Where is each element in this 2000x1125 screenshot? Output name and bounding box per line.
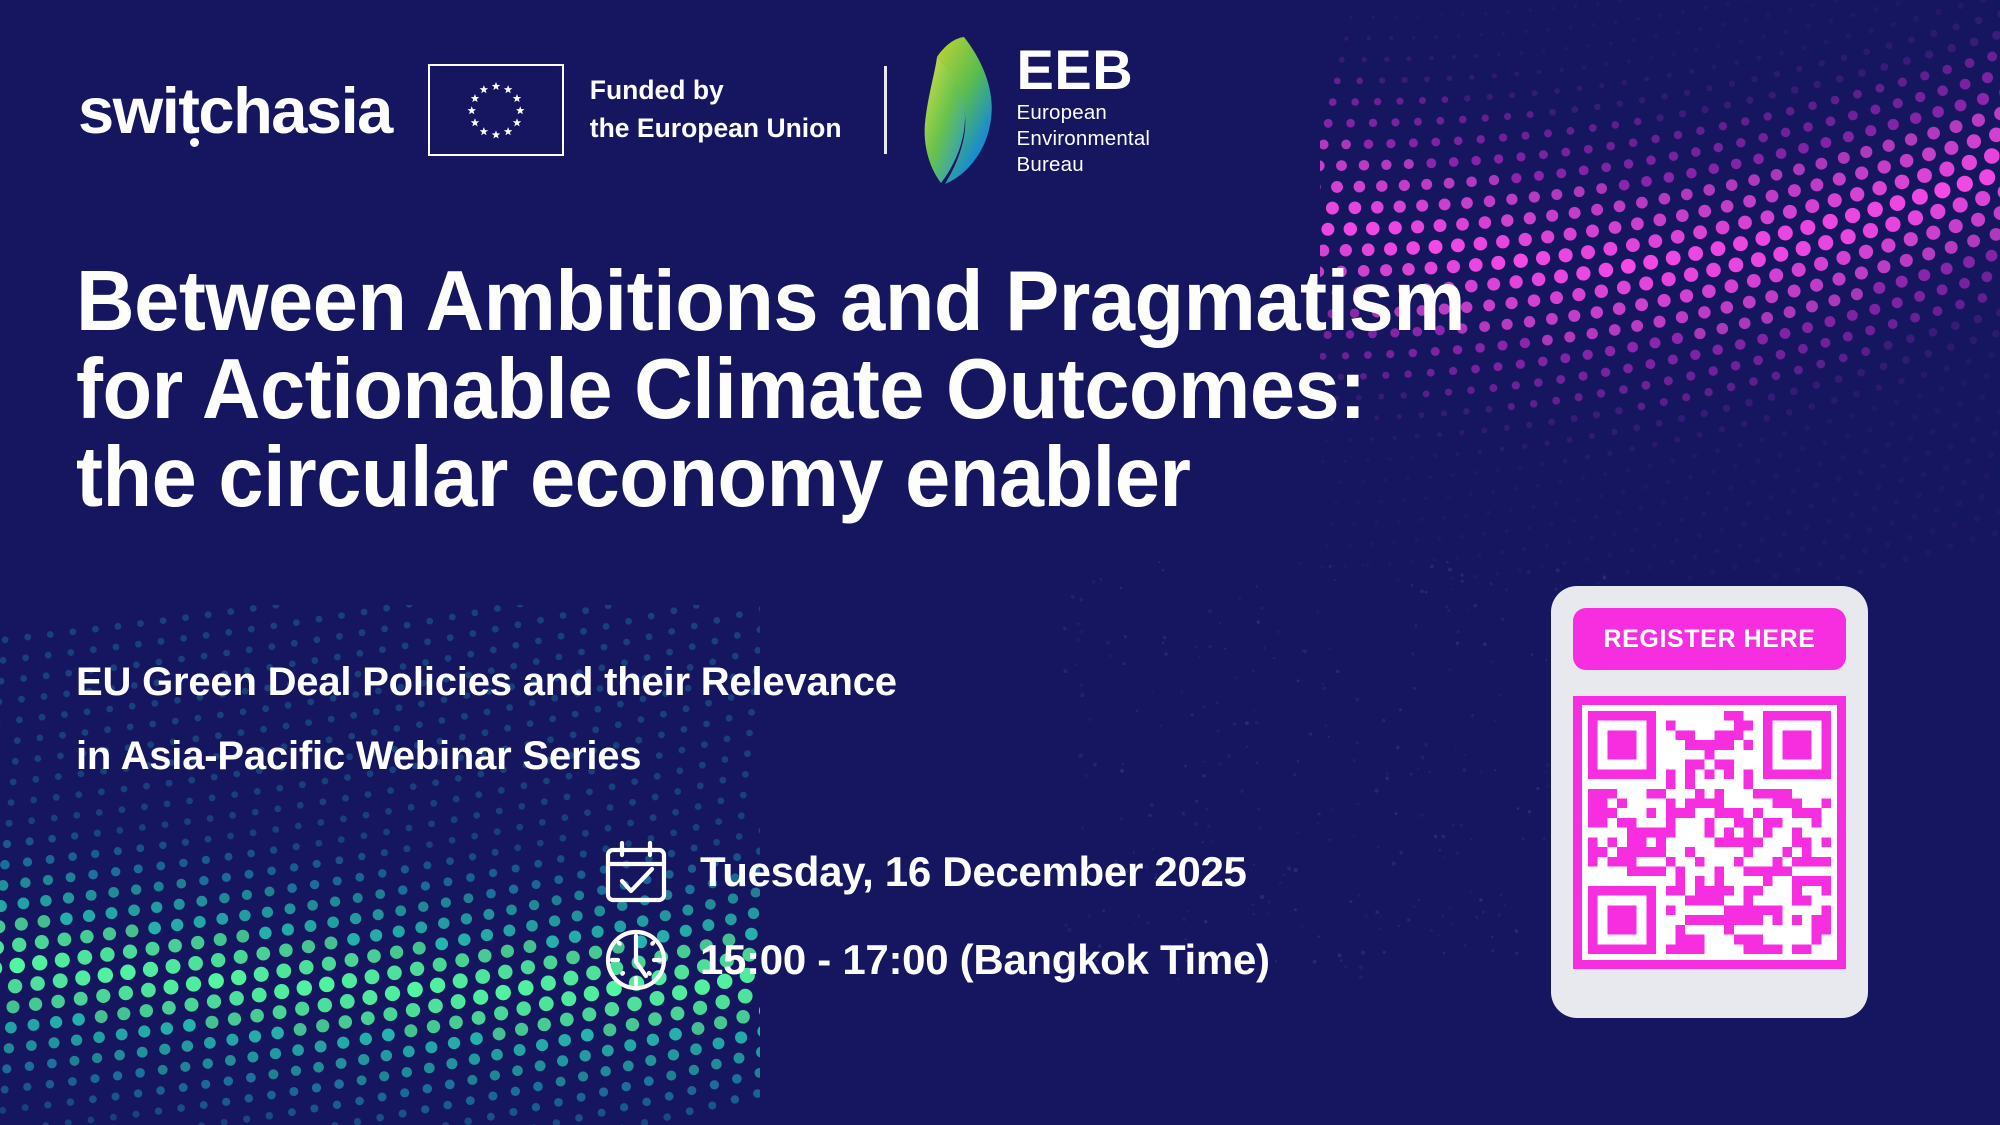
page-title-line-1: Between Ambitions and Pragmatism [76, 258, 1604, 346]
registration-card: REGISTER HERE [1551, 586, 1868, 1018]
logo-row: switchasia Funded by the European Union [78, 52, 1150, 168]
header-divider [884, 66, 887, 154]
page-subtitle-line-2: in Asia-Pacific Webinar Series [76, 719, 897, 793]
event-date-label: Tuesday, 16 December 2025 [700, 848, 1247, 896]
qr-code-icon[interactable] [1573, 696, 1846, 969]
eu-funding-text: Funded by the European Union [590, 72, 842, 147]
eu-funding-line-1: Funded by [590, 72, 842, 110]
eeb-fullname-line-1: European [1017, 100, 1151, 126]
eeb-fullname-line-2: Environmental [1017, 126, 1151, 152]
eeb-leaf-logo-icon [923, 35, 1001, 185]
eu-funding-logo: Funded by the European Union [428, 64, 842, 156]
register-here-button[interactable]: REGISTER HERE [1573, 608, 1846, 670]
clock-icon [600, 924, 672, 996]
eeb-fullname: European Environmental Bureau [1017, 100, 1151, 177]
switchasia-logo-text: switchasia [78, 74, 392, 147]
eeb-fullname-line-3: Bureau [1017, 152, 1151, 178]
european-union-flag-icon [428, 64, 564, 156]
webinar-banner: switchasia Funded by the European Union [0, 0, 2000, 1125]
event-date-row: Tuesday, 16 December 2025 [600, 828, 1270, 916]
eeb-logo: EEB European Environmental Bureau [923, 35, 1151, 185]
page-title: Between Ambitions and Pragmatism for Act… [76, 258, 1604, 522]
eeb-acronym: EEB [1017, 43, 1151, 96]
page-subtitle-line-1: EU Green Deal Policies and their Relevan… [76, 645, 897, 719]
event-time-label: 15:00 - 17:00 (Bangkok Time) [700, 936, 1270, 984]
event-details: Tuesday, 16 December 2025 15:00 - 17:00 … [600, 828, 1270, 1004]
page-subtitle: EU Green Deal Policies and their Relevan… [76, 645, 897, 793]
page-title-line-3: the circular economy enabler [76, 434, 1604, 522]
eu-funding-line-2: the European Union [590, 110, 842, 148]
switchasia-logo-dot [190, 138, 199, 147]
calendar-check-icon [600, 836, 672, 908]
event-time-row: 15:00 - 17:00 (Bangkok Time) [600, 916, 1270, 1004]
page-title-line-2: for Actionable Climate Outcomes: [76, 346, 1604, 434]
eeb-text-block: EEB European Environmental Bureau [1017, 43, 1151, 178]
switchasia-wordmark[interactable]: switchasia [78, 78, 398, 143]
